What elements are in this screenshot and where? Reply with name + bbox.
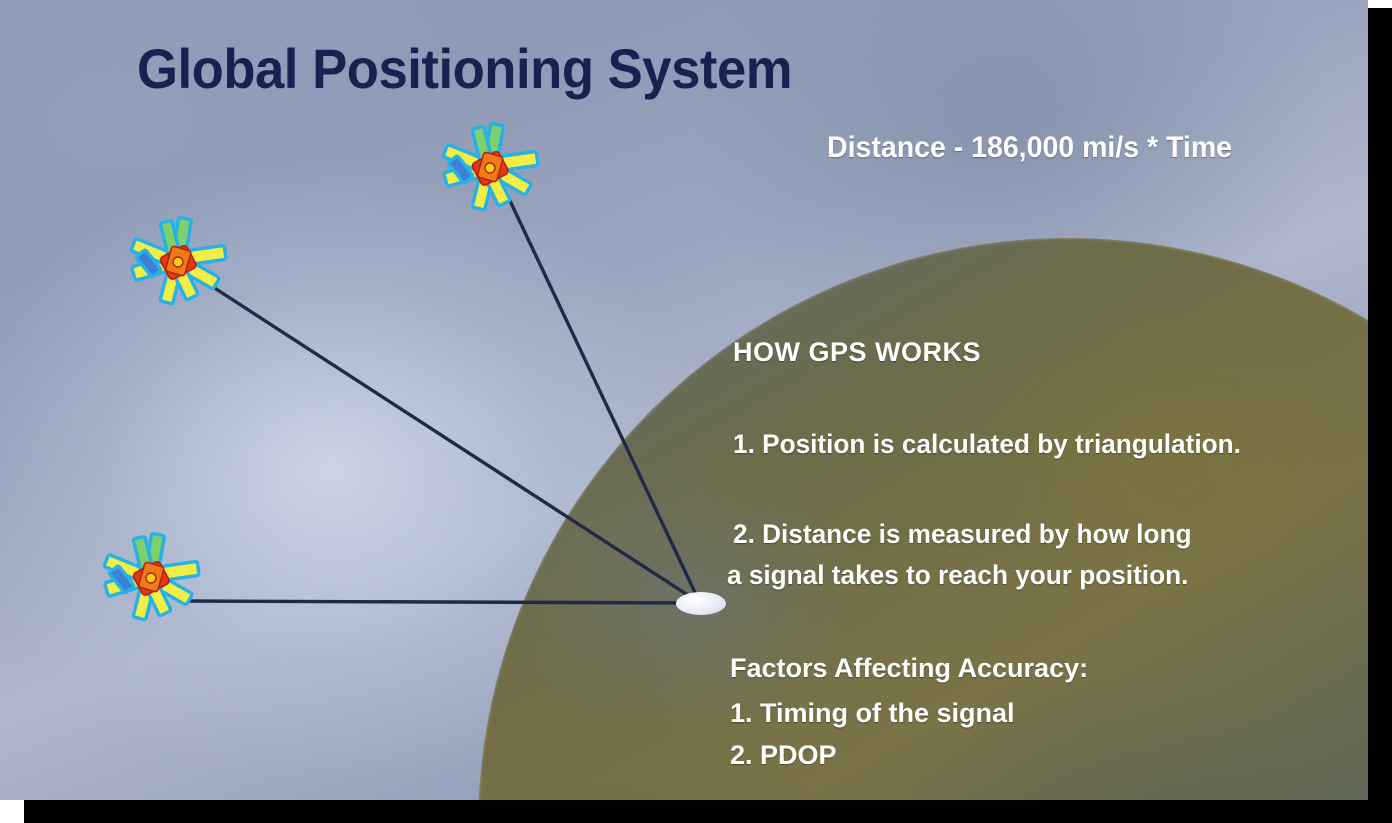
accuracy-item-2: 2. PDOP — [730, 740, 837, 771]
accuracy-heading: Factors Affecting Accuracy: — [730, 653, 1088, 684]
satellite-core — [146, 573, 156, 583]
accuracy-item-1: 1. Timing of the signal — [730, 698, 1015, 729]
satellite-core — [173, 257, 183, 267]
distance-formula: Distance - 186,000 mi/s * Time — [827, 131, 1232, 165]
satellite-left — [128, 216, 228, 308]
satellite-bottom-left — [101, 532, 201, 624]
how-gps-works-step-2-line-2: a signal takes to reach your position. — [727, 560, 1188, 591]
how-gps-works-step-1: 1. Position is calculated by triangulati… — [733, 429, 1241, 460]
page-title: Global Positioning System — [137, 36, 792, 101]
signal-lines-layer — [0, 0, 1368, 800]
slide-frame: Global Positioning System Distance - 186… — [0, 0, 1392, 823]
signal-line-bottom-left — [186, 601, 700, 603]
slide-canvas: Global Positioning System Distance - 186… — [0, 0, 1368, 800]
satellite-core — [485, 163, 495, 173]
slide-border-bottom — [24, 800, 1392, 823]
ground-receiver — [676, 592, 726, 615]
satellite-top — [440, 122, 540, 214]
how-gps-works-heading: HOW GPS WORKS — [733, 337, 981, 368]
how-gps-works-step-2-line-1: 2. Distance is measured by how long — [733, 519, 1191, 550]
slide-border-right — [1368, 8, 1392, 823]
